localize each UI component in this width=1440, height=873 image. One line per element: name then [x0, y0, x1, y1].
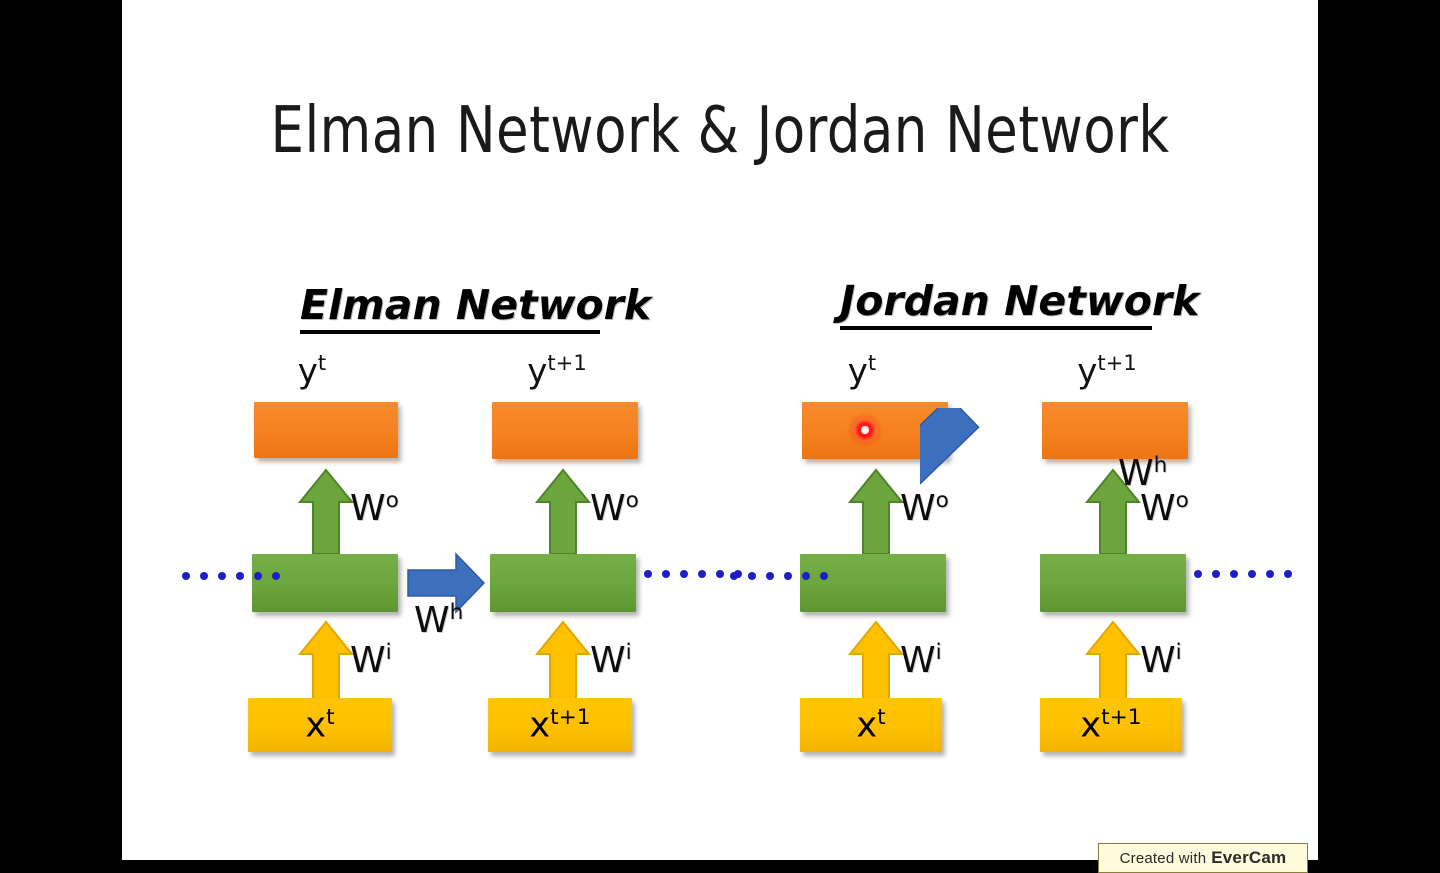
input-box-jordan-t1: xt+1 — [1040, 698, 1182, 752]
ellipsis-elman-right — [644, 570, 742, 578]
output-box-elman-t1 — [492, 402, 638, 459]
input-box-label-elman-t1: xt+1 — [529, 707, 590, 744]
weight-label-wi-jordan-t1: Wi — [1140, 642, 1182, 679]
watermark-brand: EverCam — [1211, 848, 1286, 868]
output-var-label-elman-t: yt — [262, 352, 362, 388]
input-box-elman-t1: xt+1 — [488, 698, 632, 752]
slide-canvas: Elman Network & Jordan Network Elman Net… — [122, 0, 1318, 860]
weight-label-wh-elman: Wh — [414, 602, 463, 639]
ellipsis-jordan-left — [730, 572, 828, 580]
hidden-box-elman-t1 — [490, 554, 636, 612]
evercam-watermark: Created with EverCam — [1098, 843, 1308, 873]
arrow-up-wi-jordan-t1 — [1085, 620, 1141, 708]
weight-label-wi-jordan-t: Wi — [900, 642, 942, 679]
ellipsis-jordan-right — [1194, 570, 1292, 578]
arrow-up-wo-jordan-t — [848, 468, 904, 556]
input-box-label-jordan-t1: xt+1 — [1080, 707, 1141, 744]
output-box-elman-t — [254, 402, 398, 458]
hidden-box-jordan-t — [800, 554, 946, 612]
input-box-label-elman-t: xt — [305, 707, 334, 744]
arrow-up-wi-jordan-t — [848, 620, 904, 708]
weight-label-wi-elman-t1: Wi — [590, 642, 632, 679]
weight-label-wo-jordan-t1: Wo — [1140, 490, 1189, 527]
presentation-screen: Elman Network & Jordan Network Elman Net… — [0, 0, 1440, 860]
arrow-up-wo-elman-t — [298, 468, 354, 556]
letterbox-bar-right — [1318, 0, 1440, 860]
hidden-box-elman-t — [252, 554, 398, 612]
heading-jordan-network: Jordan Network — [840, 278, 1152, 330]
hidden-box-jordan-t1 — [1040, 554, 1186, 612]
input-box-jordan-t: xt — [800, 698, 942, 752]
watermark-prefix: Created with — [1120, 850, 1207, 867]
arrow-up-wi-elman-t1 — [535, 620, 591, 708]
ellipsis-elman-left — [182, 572, 280, 580]
input-box-label-jordan-t: xt — [856, 707, 885, 744]
heading-elman-network: Elman Network — [300, 282, 600, 334]
output-var-label-elman-t1: yt+1 — [502, 352, 612, 388]
input-box-elman-t: xt — [248, 698, 392, 752]
page-title: Elman Network & Jordan Network — [170, 92, 1270, 170]
arrow-up-wi-elman-t — [298, 620, 354, 708]
output-var-label-jordan-t: yt — [812, 352, 912, 388]
output-var-label-jordan-t1: yt+1 — [1052, 352, 1162, 388]
laser-pointer-icon — [852, 417, 878, 443]
arrow-up-wo-elman-t1 — [535, 468, 591, 556]
weight-label-wi-elman-t: Wi — [350, 642, 392, 679]
weight-label-wo-elman-t1: Wo — [590, 490, 639, 527]
letterbox-bar-left — [0, 0, 122, 860]
weight-label-wh-jordan: Wh — [1118, 455, 1167, 492]
weight-label-wo-elman-t: Wo — [350, 490, 399, 527]
